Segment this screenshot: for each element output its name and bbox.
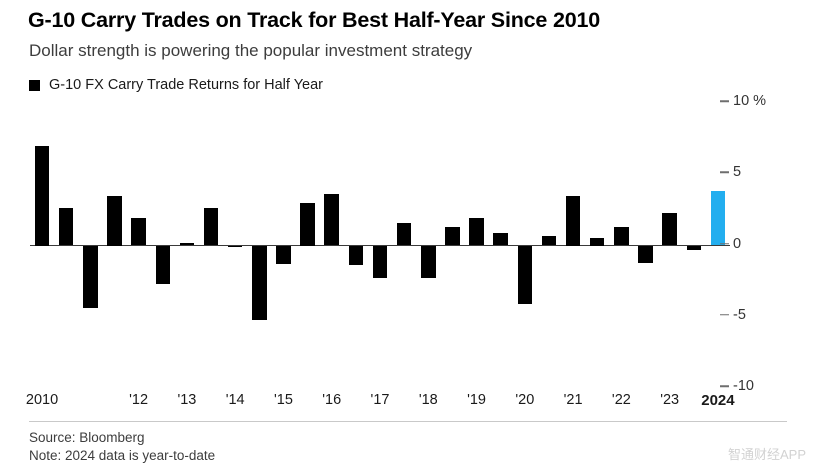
y-tick-label: 0 (733, 236, 741, 252)
y-axis-tick: -5 (733, 307, 746, 323)
x-axis-label: '15 (274, 392, 293, 408)
y-tick-label: -10 (733, 378, 754, 394)
footer-divider (29, 421, 787, 422)
x-axis-label: '20 (515, 392, 534, 408)
bar (421, 246, 435, 279)
x-axis-label: '17 (371, 392, 390, 408)
plot-area (30, 103, 730, 388)
bar (397, 223, 411, 246)
page-title: G-10 Carry Trades on Track for Best Half… (28, 8, 600, 33)
bar (566, 196, 580, 246)
y-tick-mark (720, 314, 729, 316)
bar (349, 246, 363, 266)
bar (324, 194, 338, 245)
bar (107, 196, 121, 246)
y-tick-label: 10 % (733, 93, 766, 109)
bar (518, 246, 532, 304)
bar (711, 191, 725, 245)
bar (638, 246, 652, 263)
bar (131, 218, 145, 245)
bar (204, 208, 218, 245)
bar (469, 218, 483, 245)
bar (276, 246, 290, 265)
bar (590, 238, 604, 245)
bar (373, 246, 387, 279)
page-subtitle: Dollar strength is powering the popular … (29, 41, 472, 61)
legend-item-label: G-10 FX Carry Trade Returns for Half Yea… (49, 77, 323, 93)
bar (180, 243, 194, 245)
x-axis-label: '23 (660, 392, 679, 408)
bar (252, 246, 266, 320)
bar (662, 213, 676, 246)
bar (542, 236, 556, 246)
y-tick-mark (720, 172, 729, 174)
y-tick-label: 5 (733, 164, 741, 180)
x-axis-label: '14 (226, 392, 245, 408)
x-axis-label: 2010 (26, 392, 58, 408)
x-axis-label: '12 (129, 392, 148, 408)
x-axis-label: '22 (612, 392, 631, 408)
y-tick-mark (720, 100, 729, 102)
y-axis-tick: 10 % (733, 93, 766, 109)
square-swatch-icon (29, 80, 40, 91)
bar (156, 246, 170, 284)
x-axis: 2010'12'13'14'15'16'17'18'19'20'21'22'23… (30, 392, 730, 416)
x-axis-label: '16 (322, 392, 341, 408)
y-axis: 10 %50-5-10 (733, 103, 803, 388)
bar (493, 233, 507, 246)
y-tick-mark (720, 243, 729, 245)
bar (300, 203, 314, 246)
y-tick-label: -5 (733, 307, 746, 323)
chart-legend: G-10 FX Carry Trade Returns for Half Yea… (29, 77, 323, 93)
chart-page: G-10 Carry Trades on Track for Best Half… (0, 0, 816, 471)
bar (228, 246, 242, 248)
bar (35, 146, 49, 246)
y-axis-tick: -10 (733, 378, 754, 394)
x-axis-label: '18 (419, 392, 438, 408)
x-axis-label: 2024 (701, 392, 734, 409)
source-line: Source: Bloomberg (29, 429, 215, 447)
y-tick-mark (720, 385, 729, 387)
bar-series (30, 103, 730, 388)
bar (83, 246, 97, 309)
x-axis-label: '21 (564, 392, 583, 408)
footer-notes: Source: Bloomberg Note: 2024 data is yea… (29, 429, 215, 465)
bar (445, 227, 459, 246)
bar (614, 227, 628, 246)
x-axis-label: '19 (467, 392, 486, 408)
bar (59, 208, 73, 245)
y-axis-tick: 5 (733, 164, 741, 180)
bar (687, 246, 701, 250)
note-line: Note: 2024 data is year-to-date (29, 447, 215, 465)
y-axis-tick: 0 (733, 236, 741, 252)
watermark: 智通财经APP (728, 444, 806, 463)
x-axis-label: '13 (177, 392, 196, 408)
